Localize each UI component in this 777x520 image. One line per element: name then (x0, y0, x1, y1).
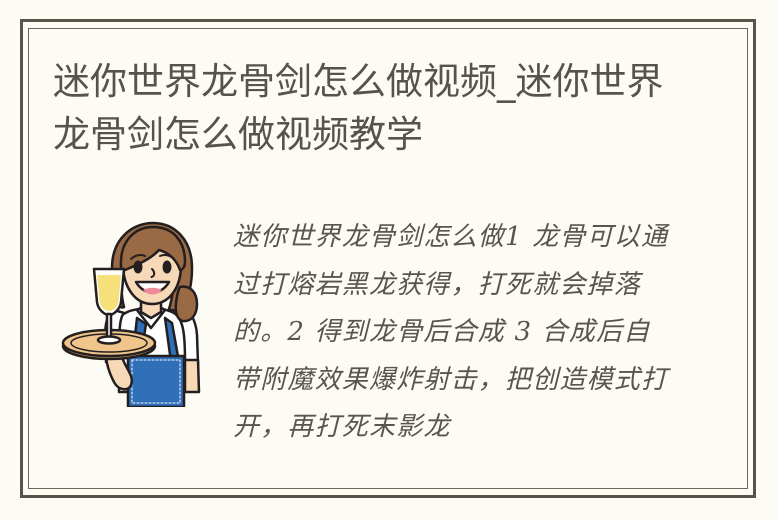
page-title: 迷你世界龙骨剑怎么做视频_迷你世界龙骨剑怎么做视频教学 (53, 55, 693, 161)
article-body-text: 迷你世界龙骨剑怎么做1 龙骨可以通过打熔岩黑龙获得，打死就会掉落的。2 得到龙骨… (233, 214, 673, 452)
apron-body (128, 356, 184, 407)
article-content: 迷你世界龙骨剑怎么做视频_迷你世界龙骨剑怎么做视频教学 (23, 22, 753, 495)
article-body-row: 迷你世界龙骨剑怎么做1 龙骨可以通过打熔岩黑龙获得，打死就会掉落的。2 得到龙骨… (23, 192, 753, 482)
wine-glass-stem (107, 314, 111, 338)
waitress-with-tray-illustration (58, 212, 223, 407)
left-eye (134, 261, 143, 274)
page-root: 迷你世界龙骨剑怎么做视频_迷你世界龙骨剑怎么做视频教学 (0, 0, 777, 520)
wine-glass-foot (98, 337, 120, 344)
decorative-outer-frame: 迷你世界龙骨剑怎么做视频_迷你世界龙骨剑怎么做视频教学 (20, 19, 756, 498)
right-eye (163, 261, 172, 274)
ponytail (176, 287, 197, 321)
